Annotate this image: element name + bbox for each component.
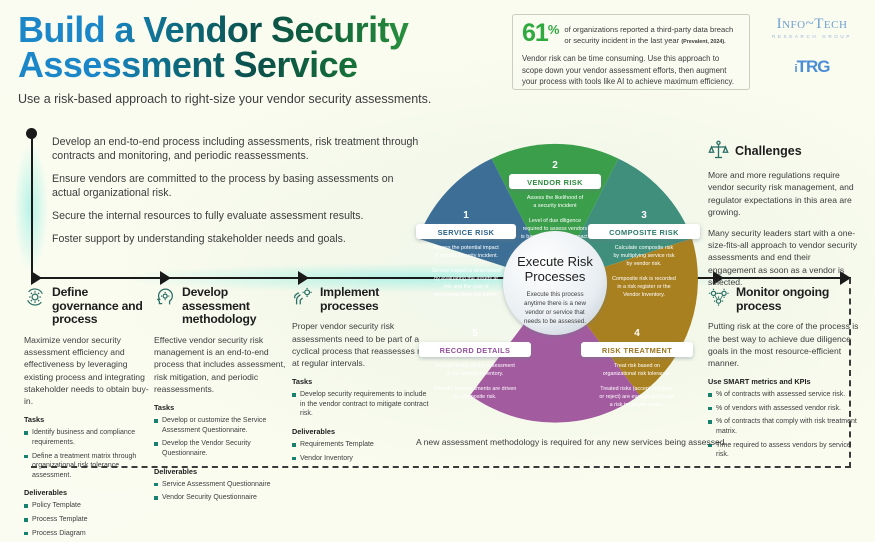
deliverable-item: Vendor Inventory (292, 454, 432, 464)
deliverable-item: Vendor Security Questionnaire (154, 493, 286, 503)
itrg-logo-main: TRG (797, 57, 830, 76)
task-item: Develop the Vendor Security Questionnair… (154, 439, 286, 458)
process-card-monitor-ongoing[interactable]: Monitor ongoing process Putting risk at … (708, 286, 860, 464)
head-gear-icon (154, 286, 176, 308)
segment-line: Vendor Inventory. (623, 292, 665, 298)
itrg-logo: iTRG (762, 57, 862, 77)
segment-line: by evaluating the assets at (434, 276, 498, 282)
card-tasks-list: Develop or customize the Service Assessm… (154, 416, 286, 459)
segment-line: Treat risk based on (614, 363, 660, 369)
statistic-citation: (Prevalent, 2024). (681, 39, 725, 45)
challenges-paragraph: Many security leaders start with a one-s… (708, 227, 860, 289)
segment-line: of vendor security incident. (434, 253, 498, 259)
metric-item: % of contracts that comply with risk tre… (708, 417, 860, 436)
card-title: Monitor ongoing process (736, 286, 860, 313)
hub-body-line: Execute this process (526, 291, 583, 298)
segment-line: in the Vendor Inventory. (447, 371, 504, 377)
hub-body-line: needs to be assessed. (524, 318, 586, 325)
task-item: Define a treatment matrix through organi… (24, 452, 156, 481)
card-description: Putting risk at the core of the process … (708, 320, 860, 369)
segment-line: in a risk register or the (617, 284, 670, 290)
hand-gear-icon (292, 286, 314, 308)
segment-label: SERVICE RISK (438, 228, 495, 237)
process-card-define-governance[interactable]: Define governance and process Maximize v… (24, 286, 156, 542)
segment-number: 2 (552, 160, 558, 171)
segment-number: 4 (634, 328, 640, 339)
deliverable-item: Policy Template (24, 501, 156, 511)
info-tech-logo-subtitle: RESEARCH GROUP (762, 34, 862, 39)
segment-label: VENDOR RISK (527, 178, 583, 187)
statistic-percent-sign: % (548, 22, 560, 37)
task-item: Identify business and compliance require… (24, 428, 156, 447)
segment-label: COMPOSITE RISK (609, 228, 679, 237)
key-point: Ensure vendors are committed to the proc… (52, 173, 422, 201)
segment-label: RECORD DETAILS (440, 346, 511, 355)
deliverable-item: Requirements Template (292, 440, 432, 450)
key-point: Secure the internal resources to fully e… (52, 210, 422, 224)
statistic-number: 61 (522, 19, 548, 47)
key-points-list: Develop an end-to-end process including … (52, 136, 422, 256)
key-point: Foster support by understanding stakehol… (52, 233, 422, 247)
hub-title-line2: Processes (525, 269, 586, 284)
card-header: Develop assessment methodology (154, 286, 286, 327)
card-header: Define governance and process (24, 286, 156, 327)
statistic-lead-text: of organizations reported a third-party … (564, 22, 741, 47)
wheel-hub: Execute Risk Processes Execute this proc… (503, 231, 607, 335)
metric-item: % of vendors with assessed vendor risk. (708, 404, 860, 414)
process-card-develop-methodology[interactable]: Develop assessment methodology Effective… (154, 286, 286, 507)
page-title: Build a Vendor Security Assessment Servi… (18, 12, 518, 83)
card-deliverables-label: Deliverables (24, 488, 156, 497)
segment-line: risk and the cost of (443, 284, 489, 290)
metric-item: Time required to assess vendors by servi… (708, 441, 860, 460)
brand-logos: Info~Tech RESEARCH GROUP iTRG (762, 16, 862, 77)
card-description: Effective vendor security risk managemen… (154, 334, 286, 395)
card-metrics-list: % of contracts with assessed service ris… (708, 390, 860, 460)
segment-line: Composite risk is recorded (612, 276, 676, 282)
segment-line: a security incident (533, 203, 577, 209)
card-deliverables-list: Requirements Template Vendor Inventory (292, 440, 432, 463)
wheel-svg: 1 SERVICE RISK Assess the potential impa… (396, 133, 714, 433)
segment-line: recovering from the event. (435, 292, 498, 298)
card-deliverables-list: Service Assessment Questionnaire Vendor … (154, 480, 286, 503)
deliverable-item: Service Assessment Questionnaire (154, 480, 286, 490)
segment-number: 5 (472, 328, 478, 339)
segment-line: organizational risk tolerance. (603, 371, 672, 377)
statistic-headline: 61% of organizations reported a third-pa… (522, 22, 741, 47)
segment-line: Periodic reassessments are driven (434, 386, 517, 392)
footer-note: A new assessment methodology is required… (416, 437, 727, 447)
statistic-body-text: Vendor risk can be time consuming. Use t… (522, 53, 741, 88)
segment-line: Assess the potential impact (433, 245, 499, 251)
segment-line: Record details of the assessment (435, 363, 515, 369)
segment-number: 3 (641, 210, 647, 221)
deliverable-item: Process Template (24, 515, 156, 525)
card-description: Maximize vendor security assessment effi… (24, 334, 156, 407)
key-point: Develop an end-to-end process including … (52, 136, 422, 164)
card-title: Develop assessment methodology (182, 286, 286, 327)
task-item: Develop or customize the Service Assessm… (154, 416, 286, 435)
deliverable-item: Process Diagram (24, 529, 156, 539)
statistic-value-group: 61% (522, 22, 559, 46)
hub-body-line: anytime there is a new (524, 300, 586, 307)
card-metrics-label: Use SMART metrics and KPIs (708, 377, 860, 386)
segment-line: Treated risks (accept, mitigate, (600, 386, 674, 392)
card-deliverables-list: Policy Template Process Template Process… (24, 501, 156, 538)
statistic-callout: 61% of organizations reported a third-pa… (512, 14, 750, 90)
segment-line: a risk treatment matrix. (610, 402, 665, 408)
segment-line: or reject) are evaluated through (599, 394, 674, 400)
segment-line: Level of due diligence (529, 218, 581, 224)
segment-line: Calculate composite risk (615, 245, 674, 251)
gear-cycle-icon (24, 286, 46, 308)
flow-vertical-line (31, 133, 33, 278)
segment-label: RISK TREATMENT (602, 346, 672, 355)
card-tasks-label: Tasks (24, 415, 156, 424)
page-header: Build a Vendor Security Assessment Servi… (18, 12, 518, 106)
page-subtitle: Use a risk-based approach to right-size … (18, 92, 518, 106)
segment-line: by composite risk. (453, 394, 496, 400)
card-deliverables-label: Deliverables (154, 467, 286, 476)
hub-title-line1: Execute Risk (517, 254, 593, 269)
card-title: Define governance and process (52, 286, 156, 327)
metric-item: % of contracts with assessed service ris… (708, 390, 860, 400)
segment-line: Assess the likelihood of (527, 195, 584, 201)
hub-body-line: vendor or service that (525, 309, 585, 316)
challenges-title: Challenges (735, 144, 802, 158)
segment-number: 1 (463, 210, 469, 221)
segment-line: by vendor risk. (626, 261, 661, 267)
challenges-header: Challenges (708, 140, 860, 161)
card-header: Monitor ongoing process (708, 286, 860, 313)
risk-process-wheel: 1 SERVICE RISK Assess the potential impa… (396, 133, 714, 433)
card-tasks-label: Tasks (154, 403, 286, 412)
segment-line: by multiplying service risk (613, 253, 674, 259)
info-tech-logo: Info~Tech (762, 16, 862, 33)
card-tasks-list: Identify business and compliance require… (24, 428, 156, 480)
segment-line: Service impact is determined (431, 268, 500, 274)
challenges-paragraph: More and more regulations require vendor… (708, 169, 860, 219)
challenges-section: Challenges More and more regulations req… (708, 140, 860, 288)
page-title-line2: Assessment Service (18, 47, 518, 82)
